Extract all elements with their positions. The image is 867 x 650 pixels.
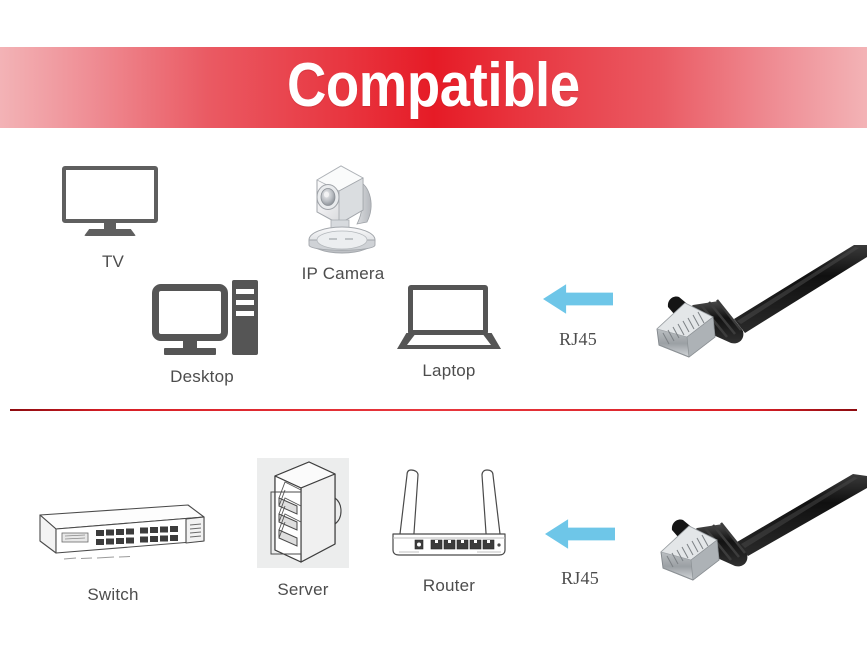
device-label-router: Router xyxy=(423,576,475,596)
desktop-tower xyxy=(232,280,258,355)
connector-callout-bottom: RJ45 xyxy=(545,518,615,589)
ip-camera-icon xyxy=(297,160,389,258)
network-switch-icon xyxy=(18,495,208,573)
device-router: Router xyxy=(387,462,511,596)
rj45-connector-icon-bottom xyxy=(655,472,867,597)
connector-label-rj45-top: RJ45 xyxy=(559,329,597,350)
tower-bay xyxy=(236,300,254,305)
rj45-connector-icon-top xyxy=(649,245,867,370)
device-label-laptop: Laptop xyxy=(422,361,475,381)
wifi-router-icon xyxy=(387,462,511,570)
device-label-desktop: Desktop xyxy=(170,367,234,387)
device-ip-camera: IP Camera xyxy=(297,160,389,284)
laptop-screen xyxy=(408,285,488,335)
desktop-monitor-base xyxy=(164,348,216,355)
device-laptop: Laptop xyxy=(397,285,501,381)
device-server: Server xyxy=(257,458,349,600)
laptop-keyboard-deck xyxy=(407,335,491,345)
device-label-server: Server xyxy=(277,580,328,600)
device-desktop: Desktop xyxy=(152,280,264,387)
device-label-ip-camera: IP Camera xyxy=(302,264,385,284)
tv-stand xyxy=(84,229,136,236)
desktop-computer-icon xyxy=(152,280,264,360)
arrow-left-icon xyxy=(545,518,615,550)
television-icon xyxy=(58,166,168,244)
arrow-left-shape xyxy=(543,283,613,315)
connector-label-rj45-bottom: RJ45 xyxy=(561,568,599,589)
device-label-switch: Switch xyxy=(87,585,138,605)
arrow-left-icon xyxy=(543,283,613,315)
connector-callout-top: RJ45 xyxy=(543,283,613,350)
tv-screen xyxy=(62,166,158,223)
section-divider xyxy=(10,409,857,411)
device-tv: TV xyxy=(58,166,168,272)
header-banner: Compatible xyxy=(0,47,867,128)
device-switch: Switch xyxy=(18,495,208,605)
device-label-tv: TV xyxy=(102,252,124,272)
arrow-left-shape xyxy=(545,518,615,550)
tower-bay xyxy=(236,311,254,316)
server-rack-icon xyxy=(257,458,349,568)
desktop-monitor xyxy=(152,284,228,341)
page-title: Compatible xyxy=(287,55,580,117)
tower-bay xyxy=(236,289,254,294)
laptop-icon xyxy=(397,285,501,353)
